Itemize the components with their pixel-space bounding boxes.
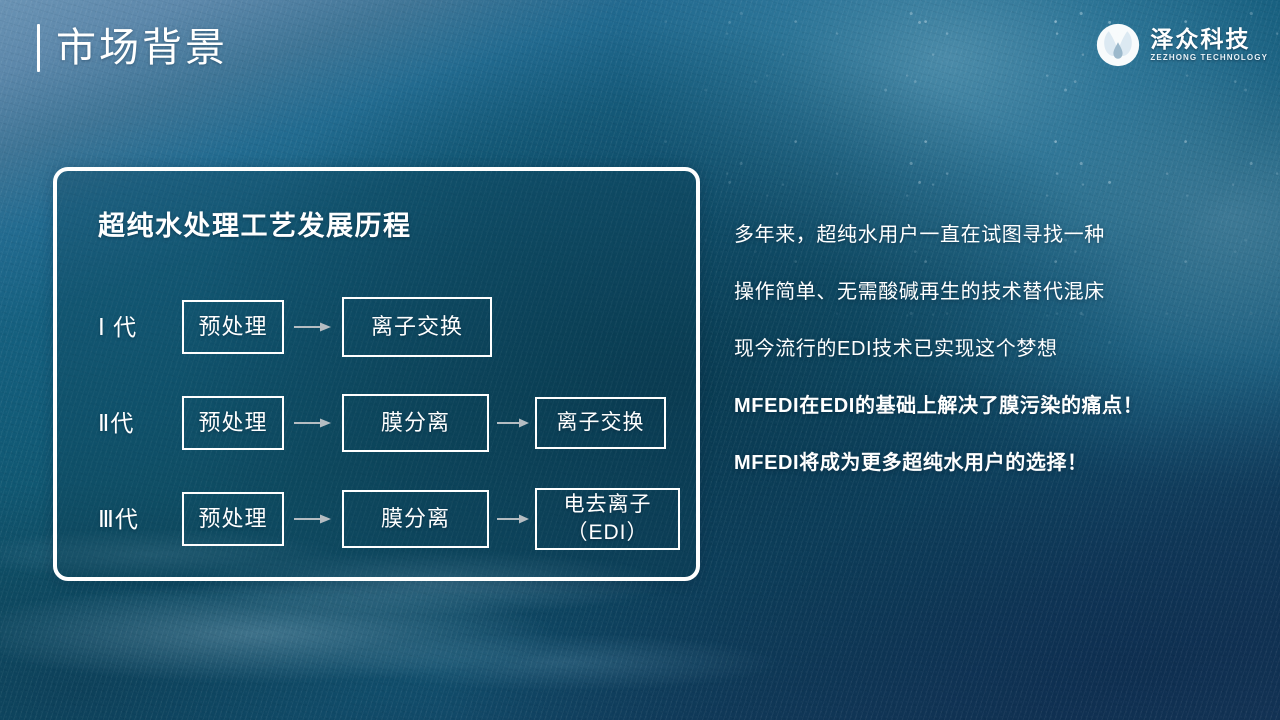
generation-label: Ⅱ代 xyxy=(98,408,176,438)
process-node: 预处理 xyxy=(182,396,284,450)
process-node: 预处理 xyxy=(182,300,284,354)
copy-line: MFEDI将成为更多超纯水用户的选择！ xyxy=(734,450,1254,476)
flow-row-gen-2: Ⅱ代 预处理 膜分离 离子交换 xyxy=(57,375,696,471)
company-logo: 泽众科技 ZEZHONG TECHNOLOGY xyxy=(1095,20,1268,70)
arrow-right-icon xyxy=(497,416,530,430)
arrow-right-icon xyxy=(294,320,332,334)
zezhong-droplet-emblem-icon xyxy=(1095,22,1141,68)
narrative-copy-block: 多年来，超纯水用户一直在试图寻找一种 操作简单、无需酸碱再生的技术替代混床 现今… xyxy=(734,222,1254,476)
process-node: 离子交换 xyxy=(342,297,492,357)
logo-name-cn: 泽众科技 xyxy=(1150,27,1268,52)
process-node-edi: 电去离子 （EDI） xyxy=(535,488,680,550)
copy-line: 现今流行的EDI技术已实现这个梦想 xyxy=(734,336,1254,362)
process-node: 膜分离 xyxy=(342,490,489,548)
copy-line: 多年来，超纯水用户一直在试图寻找一种 xyxy=(734,222,1254,248)
flow-row-gen-3: Ⅲ代 预处理 膜分离 电去离子 （EDI） xyxy=(57,471,696,567)
title-accent-bar xyxy=(37,24,40,72)
logo-name-en: ZEZHONG TECHNOLOGY xyxy=(1150,52,1268,63)
arrow-right-icon xyxy=(294,512,332,526)
page-title: 市场背景 xyxy=(56,22,228,74)
flow-row-gen-1: Ⅰ 代 预处理 离子交换 xyxy=(57,279,696,375)
panel-heading: 超纯水处理工艺发展历程 xyxy=(98,209,412,243)
slide-canvas: 市场背景 泽众科技 ZEZHONG TECHNOLOGY 超纯水处理工艺发展历程… xyxy=(0,0,1280,720)
slide-header: 市场背景 泽众科技 ZEZHONG TECHNOLOGY xyxy=(0,0,1280,92)
logo-wordmark: 泽众科技 ZEZHONG TECHNOLOGY xyxy=(1150,27,1268,63)
process-node-line2: （EDI） xyxy=(566,519,648,547)
process-node-line1: 电去离子 xyxy=(564,491,652,519)
copy-line: 操作简单、无需酸碱再生的技术替代混床 xyxy=(734,279,1254,305)
process-evolution-panel: 超纯水处理工艺发展历程 Ⅰ 代 预处理 离子交换 Ⅱ代 预处理 膜分离 xyxy=(53,167,700,581)
arrow-right-icon xyxy=(294,416,332,430)
process-node: 预处理 xyxy=(182,492,284,546)
process-node: 离子交换 xyxy=(535,397,666,449)
generation-label: Ⅲ代 xyxy=(98,504,176,534)
arrow-right-icon xyxy=(497,512,530,526)
process-node: 膜分离 xyxy=(342,394,489,452)
copy-line: MFEDI在EDI的基础上解决了膜污染的痛点！ xyxy=(734,393,1254,419)
generation-label: Ⅰ 代 xyxy=(98,312,176,342)
flow-rows: Ⅰ 代 预处理 离子交换 Ⅱ代 预处理 膜分离 离子交换 xyxy=(57,279,696,567)
